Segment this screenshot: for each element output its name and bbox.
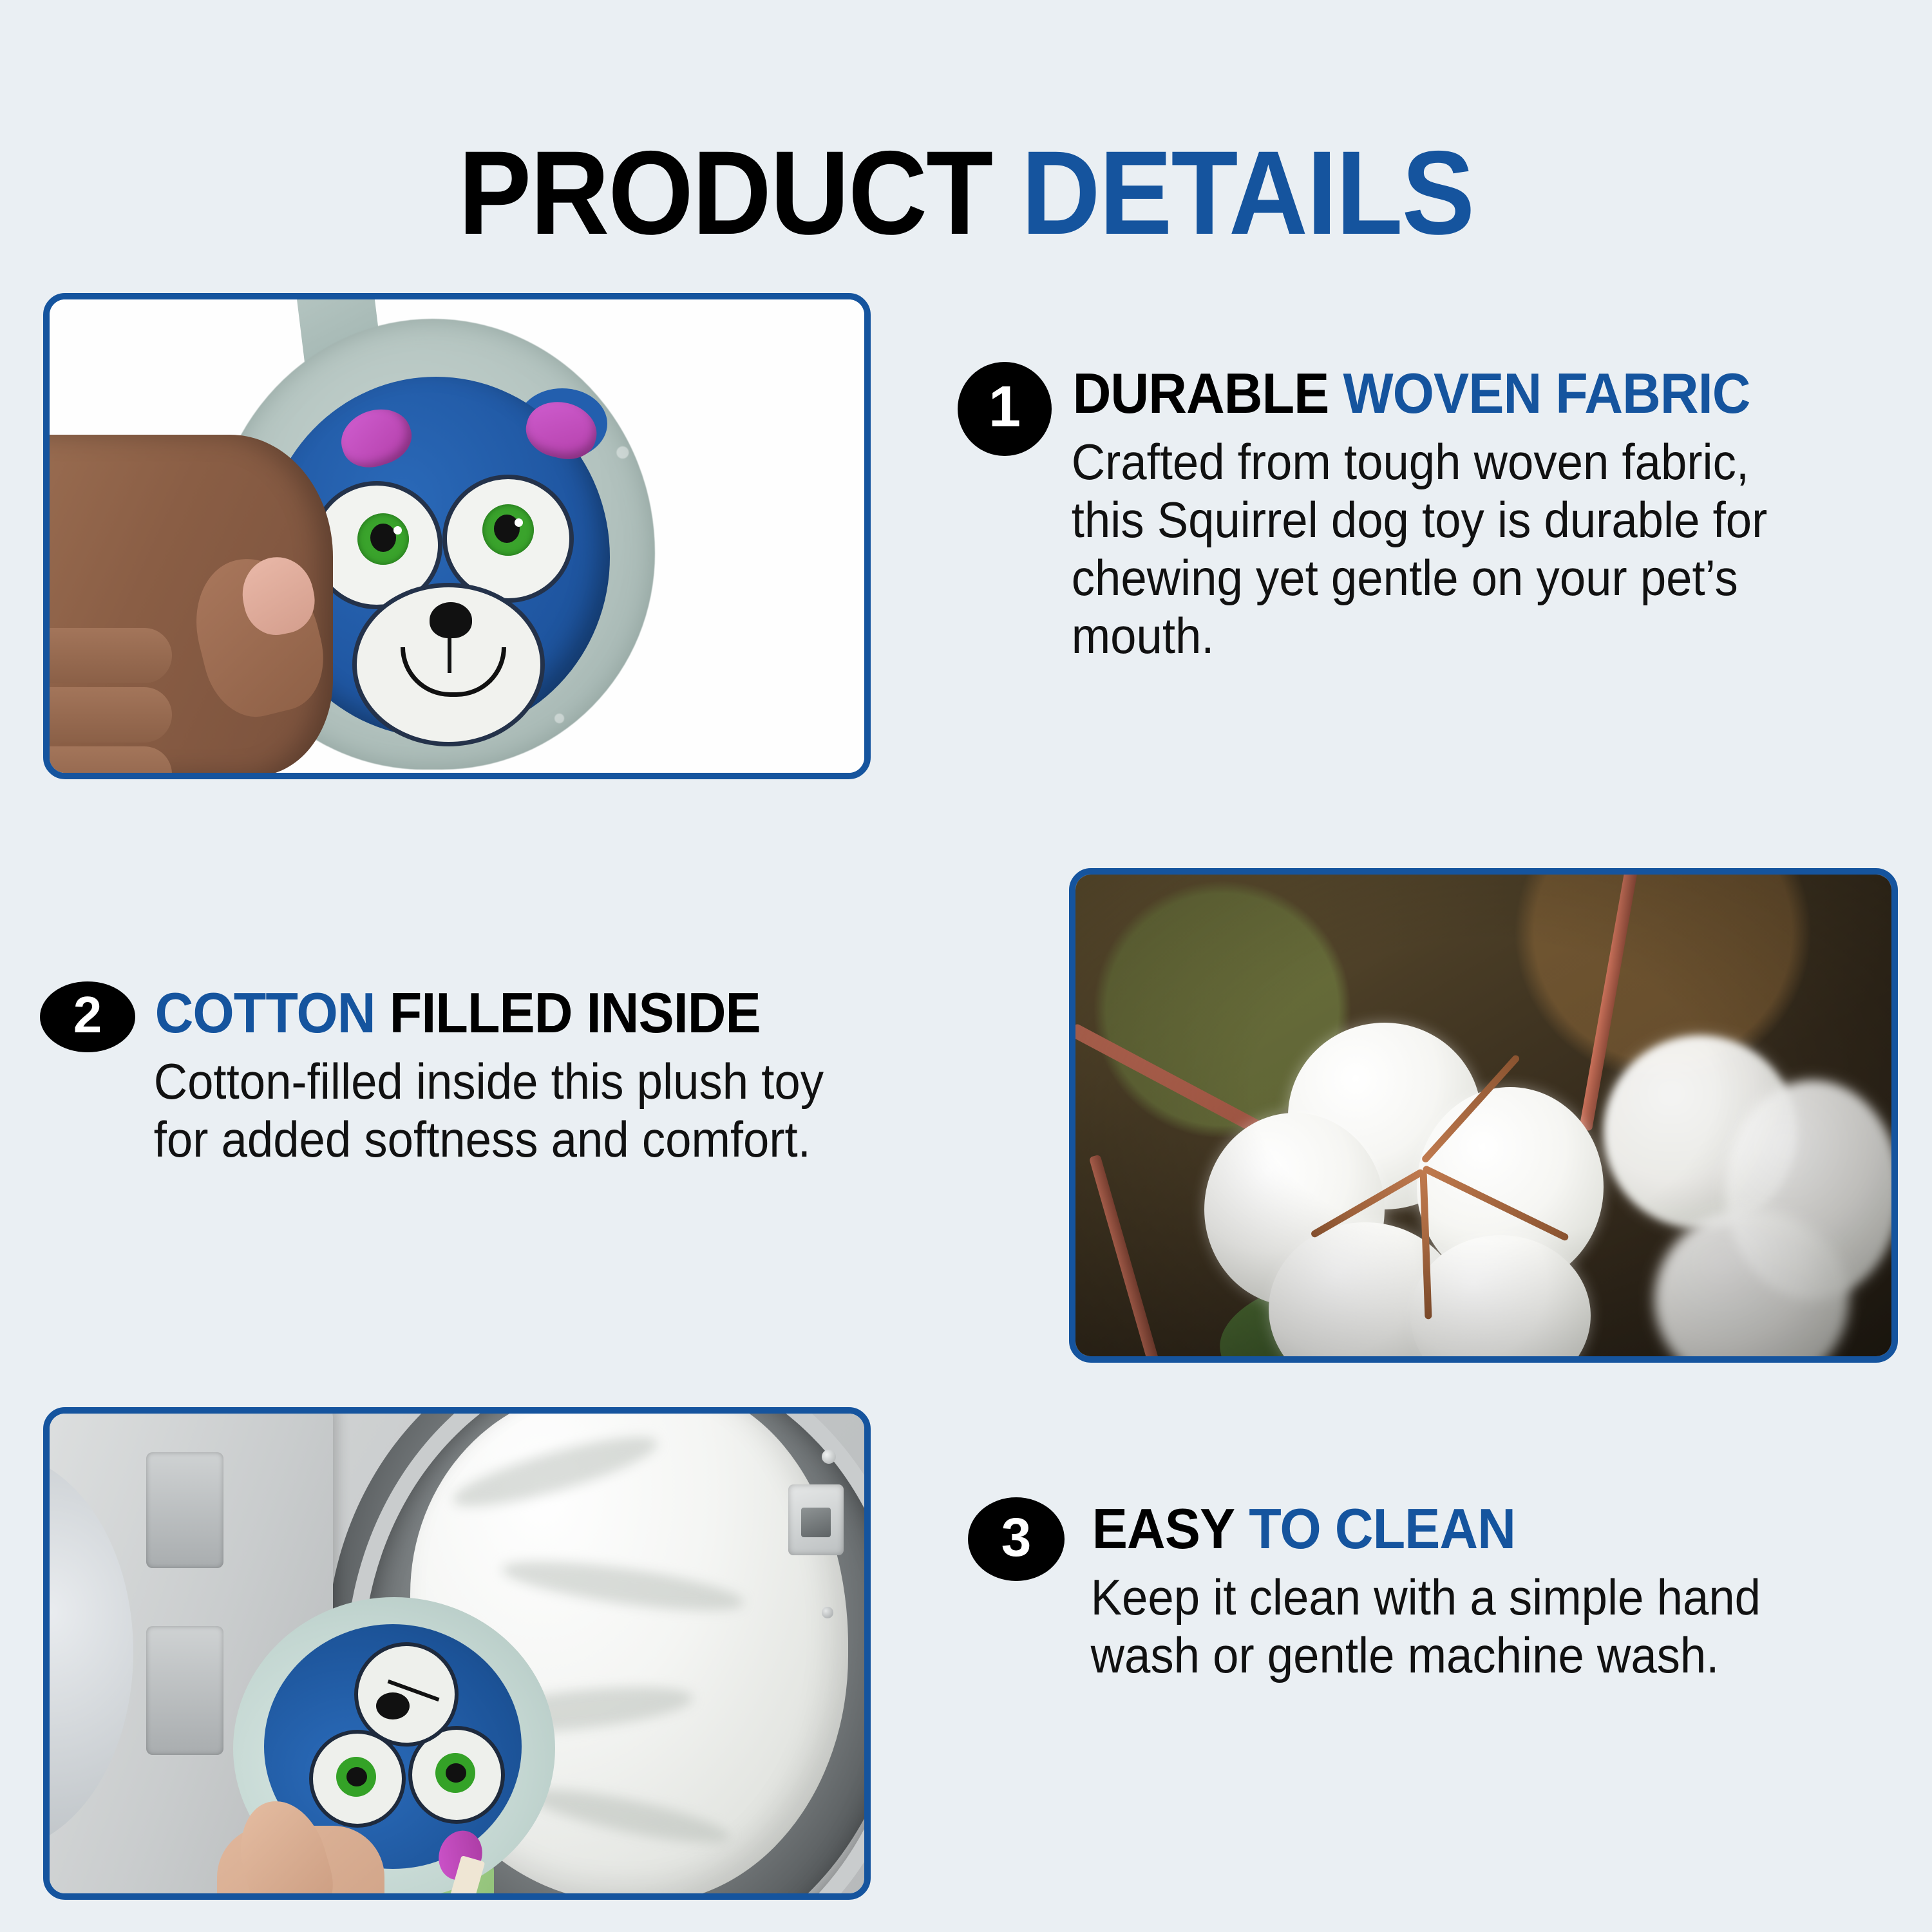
feature-heading-3: EASY TO CLEAN [968, 1497, 1828, 1560]
feature-heading-1-space [1329, 361, 1343, 425]
feature-heading-1-black: DURABLE [1073, 361, 1329, 425]
feature-body-2: Cotton-filled inside this plush toy for … [40, 1052, 878, 1168]
washer-latch-panel [788, 1484, 844, 1555]
washer-hinge-top [146, 1452, 223, 1568]
feature-heading-2-space [375, 981, 390, 1045]
feature-body-1: Crafted from tough woven fabric, this Sq… [958, 433, 1808, 665]
feature-block-1: 1 DURABLE WOVEN FABRIC Crafted from toug… [958, 362, 1872, 665]
feature-heading-3-black: EASY [1092, 1497, 1235, 1560]
toy-nose [430, 602, 472, 638]
photo-cotton-bolls [1069, 868, 1898, 1363]
feature-heading-2-black: FILLED INSIDE [390, 981, 761, 1045]
photo-toy-at-washing-machine [43, 1407, 871, 1900]
toy-pupil-b-washer [446, 1763, 466, 1783]
washing-machine-illustration [50, 1414, 864, 1893]
toy-eye-c-washer [354, 1642, 459, 1747]
feature-heading-1: DURABLE WOVEN FABRIC [958, 362, 1817, 425]
cotton-photo-vignette [1075, 875, 1891, 1356]
feature-heading-3-space [1235, 1497, 1249, 1560]
toy-pupil-a-washer [346, 1767, 367, 1786]
washer-hinge-bottom [146, 1626, 223, 1755]
page-title-blue: DETAILS [1021, 127, 1474, 260]
page-title: PRODUCT DETAILS [77, 132, 1855, 254]
washer-screw-bottom [822, 1607, 833, 1618]
feature-heading-3-blue: TO CLEAN [1249, 1497, 1515, 1560]
feature-block-3: 3 EASY TO CLEAN Keep it clean with a sim… [968, 1497, 1882, 1684]
washer-screw-top [822, 1450, 836, 1464]
toy-nose-washer [376, 1692, 410, 1719]
cotton-bolls-illustration [1075, 875, 1891, 1356]
feature-heading-2-blue: COTTON [155, 981, 375, 1045]
toy-eye-glint-left [393, 526, 402, 535]
feature-heading-1-blue: WOVEN FABRIC [1343, 361, 1750, 425]
toy-eye-glint-right [515, 518, 523, 527]
finger-1 [50, 628, 172, 683]
finger-2 [50, 687, 172, 743]
feature-heading-2: COTTON FILLED INSIDE [40, 981, 887, 1045]
feature-body-3: Keep it clean with a simple hand wash or… [968, 1568, 1819, 1684]
toy-in-hand-illustration [50, 299, 864, 773]
toy-pupil-left [370, 524, 396, 552]
finger-3 [50, 746, 172, 773]
photo-toy-in-hand [43, 293, 871, 779]
page-title-black: PRODUCT [459, 127, 992, 260]
feature-block-2: 2 COTTON FILLED INSIDE Cotton-filled ins… [40, 981, 942, 1168]
page-title-space [992, 127, 1021, 260]
